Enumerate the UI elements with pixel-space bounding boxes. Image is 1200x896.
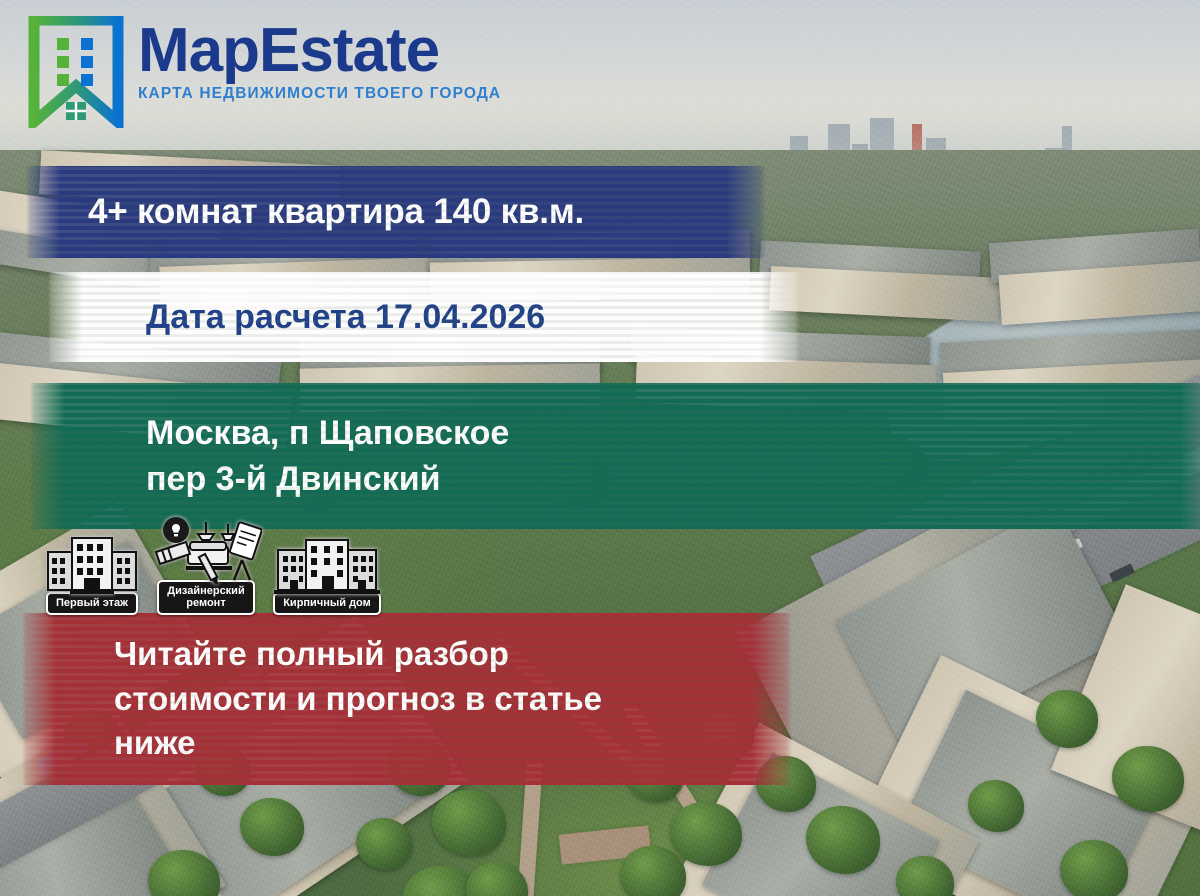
- cta-banner: Читайте полный разбор стоимости и прогно…: [22, 613, 792, 785]
- brand-name: MapEstate: [138, 22, 501, 81]
- badge-brick-house: Кирпичный дом: [272, 534, 382, 614]
- badge-first-floor: Первый этаж: [44, 534, 140, 614]
- cta-line-2: стоимости и прогноз в статье: [114, 677, 602, 722]
- feature-badges: Первый этаж: [44, 516, 382, 615]
- badge-designer-renovation: Дизайнерский ремонт: [150, 516, 262, 615]
- bookmark-building-icon: [28, 16, 124, 128]
- brand-text: MapEstate КАРТА НЕДВИЖИМОСТИ ТВОЕГО ГОРО…: [138, 16, 501, 103]
- cta-line-3: ниже: [114, 721, 602, 766]
- address-banner: Москва, п Щаповское пер 3-й Двинский: [30, 383, 1200, 529]
- interior-design-icon: [150, 516, 262, 584]
- cta-text: Читайте полный разбор стоимости и прогно…: [22, 632, 602, 766]
- brick-house-icon: [272, 534, 382, 596]
- calculation-date-text: Дата расчета 17.04.2026: [48, 298, 545, 337]
- address-line-2: пер 3-й Двинский: [146, 456, 509, 502]
- rooms-area-text: 4+ комнат квартира 140 кв.м.: [26, 192, 584, 232]
- address-text: Москва, п Щаповское пер 3-й Двинский: [30, 410, 509, 502]
- badge-label-designer-renovation: Дизайнерский ремонт: [157, 580, 254, 615]
- cta-line-1: Читайте полный разбор: [114, 632, 602, 677]
- apartment-building-icon: [44, 534, 140, 596]
- brand-tagline: КАРТА НЕДВИЖИМОСТИ ТВОЕГО ГОРОДА: [138, 85, 501, 103]
- brand-logo[interactable]: MapEstate КАРТА НЕДВИЖИМОСТИ ТВОЕГО ГОРО…: [28, 16, 501, 128]
- calculation-date-banner: Дата расчета 17.04.2026: [48, 272, 800, 362]
- rooms-area-banner: 4+ комнат квартира 140 кв.м.: [26, 166, 766, 258]
- property-promo-poster: MapEstate КАРТА НЕДВИЖИМОСТИ ТВОЕГО ГОРО…: [0, 0, 1200, 896]
- address-line-1: Москва, п Щаповское: [146, 410, 509, 456]
